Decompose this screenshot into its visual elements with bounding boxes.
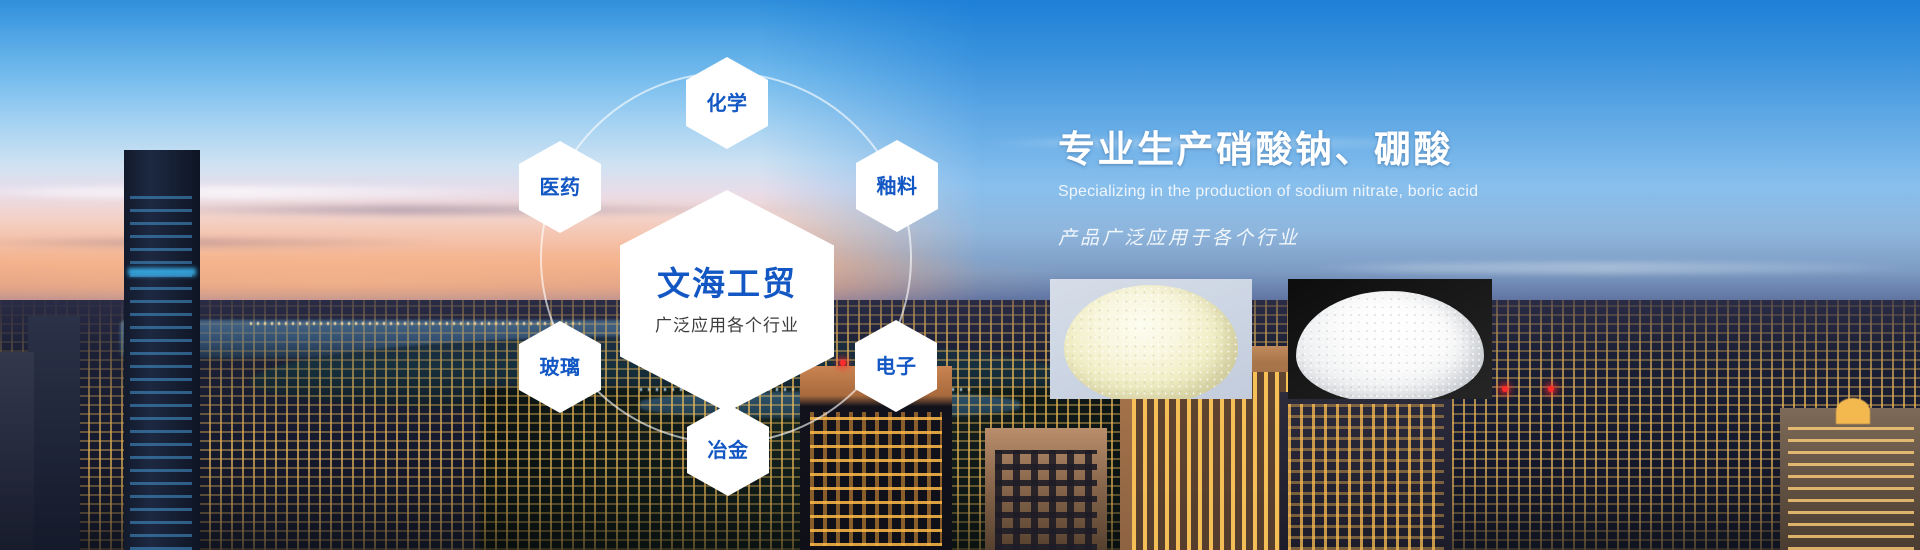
skyscraper bbox=[1280, 392, 1452, 550]
beacon-light bbox=[1548, 386, 1554, 392]
powder-grain-texture bbox=[1064, 285, 1238, 399]
powder-grain-texture bbox=[1296, 291, 1484, 399]
skyscraper bbox=[28, 316, 80, 550]
headline-block: 专业生产硝酸钠、硼酸 Specializing in the productio… bbox=[1058, 128, 1778, 250]
product-photo-boric-acid bbox=[1288, 279, 1492, 399]
company-name: 文海工贸 bbox=[657, 266, 797, 302]
skyscraper bbox=[0, 352, 34, 550]
headline-text: 专业生产硝酸钠、硼酸 bbox=[1058, 128, 1778, 172]
skyscraper-accent-light bbox=[128, 268, 196, 276]
headline-subtitle-chinese: 产品广泛应用于各个行业 bbox=[1058, 223, 1778, 250]
skyscraper bbox=[985, 428, 1107, 550]
skyscraper bbox=[1780, 408, 1920, 550]
cloud-band bbox=[1300, 262, 1920, 274]
hex-node-label: 玻璃 bbox=[540, 357, 581, 377]
hex-node-label: 医药 bbox=[540, 177, 581, 197]
building-dome bbox=[1836, 398, 1870, 424]
window-lights bbox=[0, 300, 1920, 550]
hex-node-label: 电子 bbox=[876, 356, 917, 376]
beacon-light bbox=[1502, 386, 1508, 392]
hex-node-label: 冶金 bbox=[708, 440, 749, 460]
promo-banner: 化学 釉料 医药 电子 玻璃 冶金 文海工贸 广泛应用各个行业 专业生产硝酸钠、… bbox=[0, 0, 1920, 550]
product-photo-sodium-nitrate bbox=[1050, 279, 1252, 399]
hex-node-label: 釉料 bbox=[877, 176, 918, 196]
headline-subtitle-english: Specializing in the production of sodium… bbox=[1058, 183, 1778, 201]
skyscraper bbox=[124, 150, 200, 550]
hex-node-label: 化学 bbox=[707, 93, 748, 113]
company-tagline: 广泛应用各个行业 bbox=[655, 311, 799, 336]
